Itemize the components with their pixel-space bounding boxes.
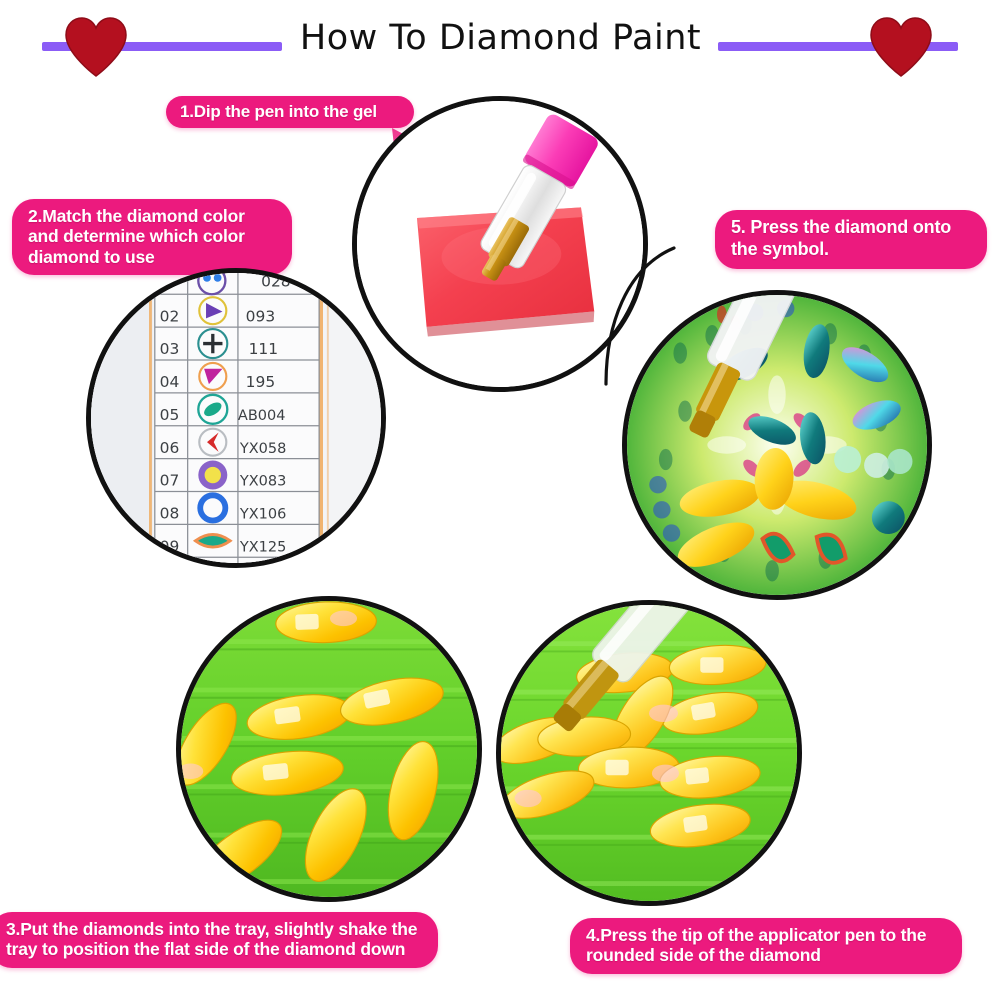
svg-text:02: 02	[160, 307, 180, 325]
svg-text:05: 05	[160, 406, 180, 424]
svg-text:093: 093	[246, 307, 276, 325]
svg-text:06: 06	[160, 439, 180, 457]
svg-text:07: 07	[160, 472, 180, 490]
svg-text:028: 028	[261, 273, 291, 291]
svg-text:09: 09	[160, 537, 180, 555]
svg-text:195: 195	[246, 373, 276, 391]
pen-picking-up-diamond-photo	[496, 600, 802, 906]
step-5-label: 5. Press the diamond onto the symbol.	[715, 210, 987, 269]
svg-text:04: 04	[160, 373, 180, 391]
svg-text:111: 111	[249, 340, 279, 358]
pen-dipping-into-gel-photo	[352, 96, 648, 392]
step-2-label: 2.Match the diamond color and determine …	[12, 199, 292, 275]
svg-text:YX083: YX083	[239, 474, 286, 490]
svg-text:AB004: AB004	[238, 408, 286, 424]
infographic-canvas: How To Diamond Paint 1.Dip the pen into …	[0, 0, 1001, 1001]
header: How To Diamond Paint	[0, 0, 1001, 80]
svg-text:YX125: YX125	[239, 539, 286, 555]
placing-diamond-on-canvas-photo	[622, 290, 932, 600]
svg-text:YX106: YX106	[239, 507, 286, 523]
svg-text:08: 08	[160, 505, 180, 523]
diamonds-in-green-tray-photo	[176, 596, 482, 902]
page-title: How To Diamond Paint	[0, 18, 1001, 58]
step-1-label: 1.Dip the pen into the gel	[166, 96, 414, 128]
svg-text:03: 03	[160, 340, 180, 358]
svg-text:YX058: YX058	[239, 441, 286, 457]
color-chart-legend-photo: 028 02 093 03 111 04	[86, 268, 386, 568]
step-4-label: 4.Press the tip of the applicator pen to…	[570, 918, 962, 974]
step-3-label: 3.Put the diamonds into the tray, slight…	[0, 912, 438, 968]
